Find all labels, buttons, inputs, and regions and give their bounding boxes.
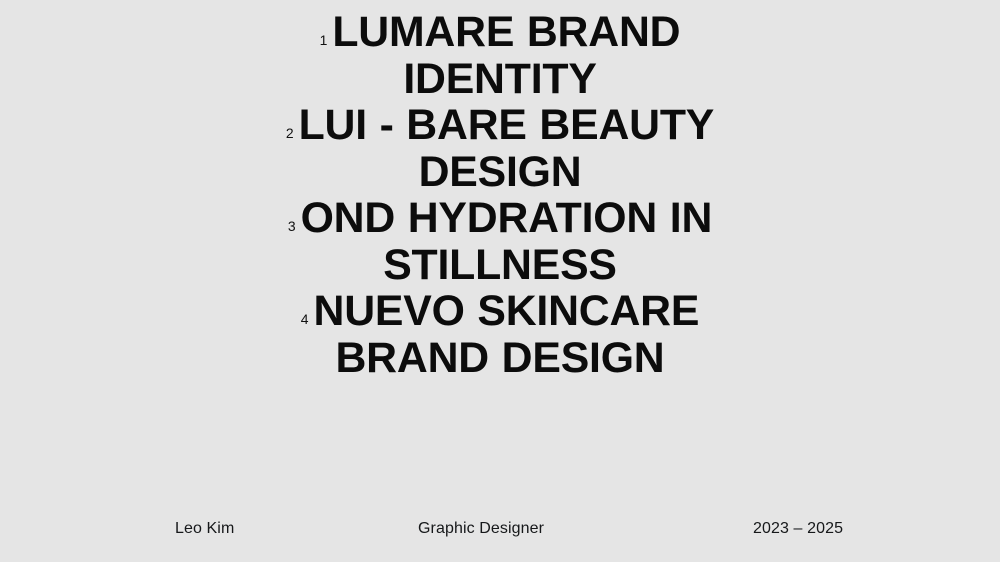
project-number: 1 — [320, 33, 328, 47]
footer-author-name: Leo Kim — [175, 520, 234, 538]
project-list-item[interactable]: 1LUMARE BRAND IDENTITY — [266, 9, 734, 102]
project-list-item[interactable]: 3OND HYDRATION IN STILLNESS — [266, 195, 734, 288]
project-title: OND HYDRATION IN STILLNESS — [301, 194, 713, 289]
project-number: 2 — [286, 126, 294, 140]
project-number: 4 — [301, 312, 309, 326]
footer-meta-row: Leo Kim Graphic Designer 2023 – 2025 — [0, 500, 1000, 562]
slide-canvas: 1LUMARE BRAND IDENTITY 2LUI - BARE BEAUT… — [0, 0, 1000, 562]
project-number: 3 — [288, 219, 296, 233]
project-title: LUMARE BRAND IDENTITY — [332, 8, 680, 103]
project-list-item[interactable]: 2LUI - BARE BEAUTY DESIGN — [266, 102, 734, 195]
footer-role-label: Graphic Designer — [418, 520, 544, 538]
project-list-item[interactable]: 4NUEVO SKINCARE BRAND DESIGN — [266, 288, 734, 381]
project-index-list: 1LUMARE BRAND IDENTITY 2LUI - BARE BEAUT… — [0, 9, 1000, 381]
project-title: LUI - BARE BEAUTY DESIGN — [299, 101, 715, 196]
project-title: NUEVO SKINCARE BRAND DESIGN — [314, 287, 700, 382]
footer-year-range: 2023 – 2025 — [753, 520, 843, 538]
